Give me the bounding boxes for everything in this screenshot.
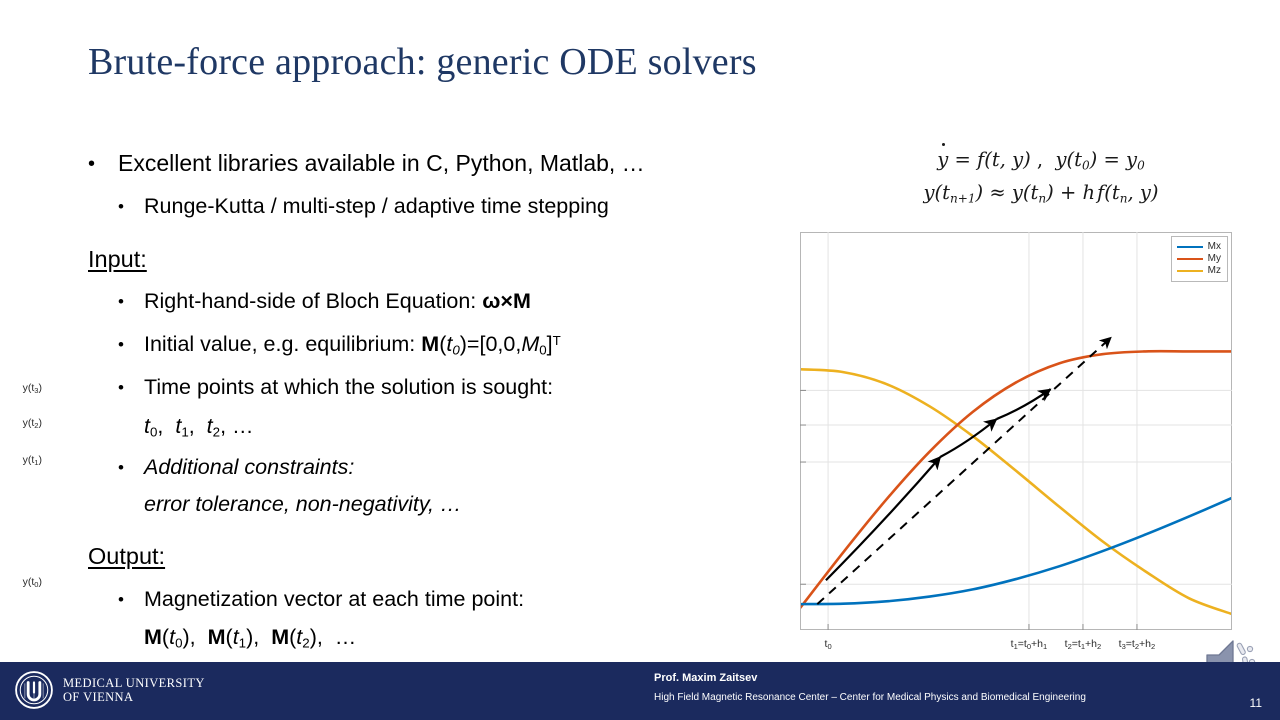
tick-marks — [800, 390, 1137, 630]
curve-mx — [800, 498, 1232, 604]
bullet-time-points: Time points at which the solution is sou… — [144, 376, 553, 400]
university-logo-text: MEDICAL UNIVERSITY OF VIENNA — [63, 676, 205, 704]
legend-item-mz: Mz — [1177, 265, 1221, 277]
legend-label-mz: Mz — [1208, 265, 1221, 277]
x-tick-label: t3=t2+h2 — [1119, 638, 1156, 651]
bullet-initial-value-text: Initial value, e.g. equilibrium: — [144, 332, 421, 356]
affiliation-text: High Field Magnetic Resonance Center – C… — [654, 692, 1086, 703]
bullet-marker — [88, 153, 95, 176]
university-logo: MEDICAL UNIVERSITY OF VIENNA — [14, 670, 205, 710]
bullet-marker — [118, 292, 124, 312]
y-tick-label: y(t1) — [23, 454, 42, 467]
legend-swatch-mz — [1177, 270, 1203, 273]
x-tick-label: t2=t1+h2 — [1065, 638, 1102, 651]
y-tick-label: y(t2) — [23, 417, 42, 430]
y-tick-label: y(t0) — [23, 576, 42, 589]
bullet-rhs-bloch-text: Right-hand-side of Bloch Equation: — [144, 289, 482, 313]
bullet-initial-value: Initial value, e.g. equilibrium: M(t0)=[… — [144, 333, 561, 358]
legend-item-my: My — [1177, 253, 1221, 265]
equation-block: y = f(t, y) , y(t0) = y0 y(tn+1) ≈ y(tn)… — [862, 148, 1220, 206]
bullet-marker — [118, 197, 124, 217]
med-uni-vienna-logo-icon — [14, 670, 54, 710]
curve-mz — [800, 369, 1232, 614]
y-tick-label: y(t3) — [23, 382, 42, 395]
university-name-line1: MEDICAL UNIVERSITY — [63, 676, 205, 690]
euler-step-path — [826, 389, 1051, 580]
bloch-magnetization-chart: Mx My Mz — [800, 232, 1232, 630]
slide-footer: MEDICAL UNIVERSITY OF VIENNA Prof. Maxim… — [0, 662, 1280, 720]
bullet-libraries: Excellent libraries available in C, Pyth… — [118, 151, 645, 176]
bullet-magnetization-output: Magnetization vector at each time point: — [144, 588, 524, 612]
bullet-runge-kutta: Runge-Kutta / multi-step / adaptive time… — [144, 195, 609, 219]
input-heading: Input: — [88, 247, 147, 273]
university-name-line2: OF VIENNA — [63, 690, 205, 704]
legend-swatch-my — [1177, 258, 1203, 261]
x-tick-label: t0 — [825, 638, 832, 651]
omega-cross-m-math: ω×M — [482, 289, 531, 313]
equation-ode-definition: y = f(t, y) , y(t0) = y0 — [862, 148, 1220, 172]
magnetization-list: M(t0), M(t1), M(t2), … — [144, 626, 356, 651]
bullet-marker — [118, 590, 124, 610]
slide-root: Brute-force approach: generic ODE solver… — [0, 0, 1280, 720]
bullet-rhs-bloch: Right-hand-side of Bloch Equation: ω×M — [144, 290, 531, 314]
bullet-marker — [118, 458, 124, 478]
output-heading: Output: — [88, 544, 165, 570]
bullet-constraints-detail: error tolerance, non-negativity, … — [144, 493, 461, 517]
chart-legend: Mx My Mz — [1171, 236, 1228, 282]
equation-euler-step: y(tn+1) ≈ y(tn) + h f(tn, y) — [862, 181, 1220, 205]
bullet-additional-constraints: Additional constraints: — [144, 456, 354, 480]
plot-canvas — [800, 232, 1232, 630]
curve-my — [800, 351, 1232, 608]
presenter-name: Prof. Maxim Zaitsev — [654, 672, 757, 684]
bullet-marker — [118, 335, 124, 355]
legend-swatch-mx — [1177, 246, 1203, 249]
legend-label-mx: Mx — [1208, 241, 1221, 253]
time-points-list: t0, t1, t2, … — [144, 415, 254, 440]
legend-label-my: My — [1208, 253, 1221, 265]
page-number: 11 — [1250, 696, 1262, 710]
x-tick-label: t1=t0+h1 — [1011, 638, 1048, 651]
bullet-marker — [118, 378, 124, 398]
page-title: Brute-force approach: generic ODE solver… — [88, 40, 757, 84]
grid-lines — [800, 232, 1232, 630]
legend-item-mx: Mx — [1177, 241, 1221, 253]
